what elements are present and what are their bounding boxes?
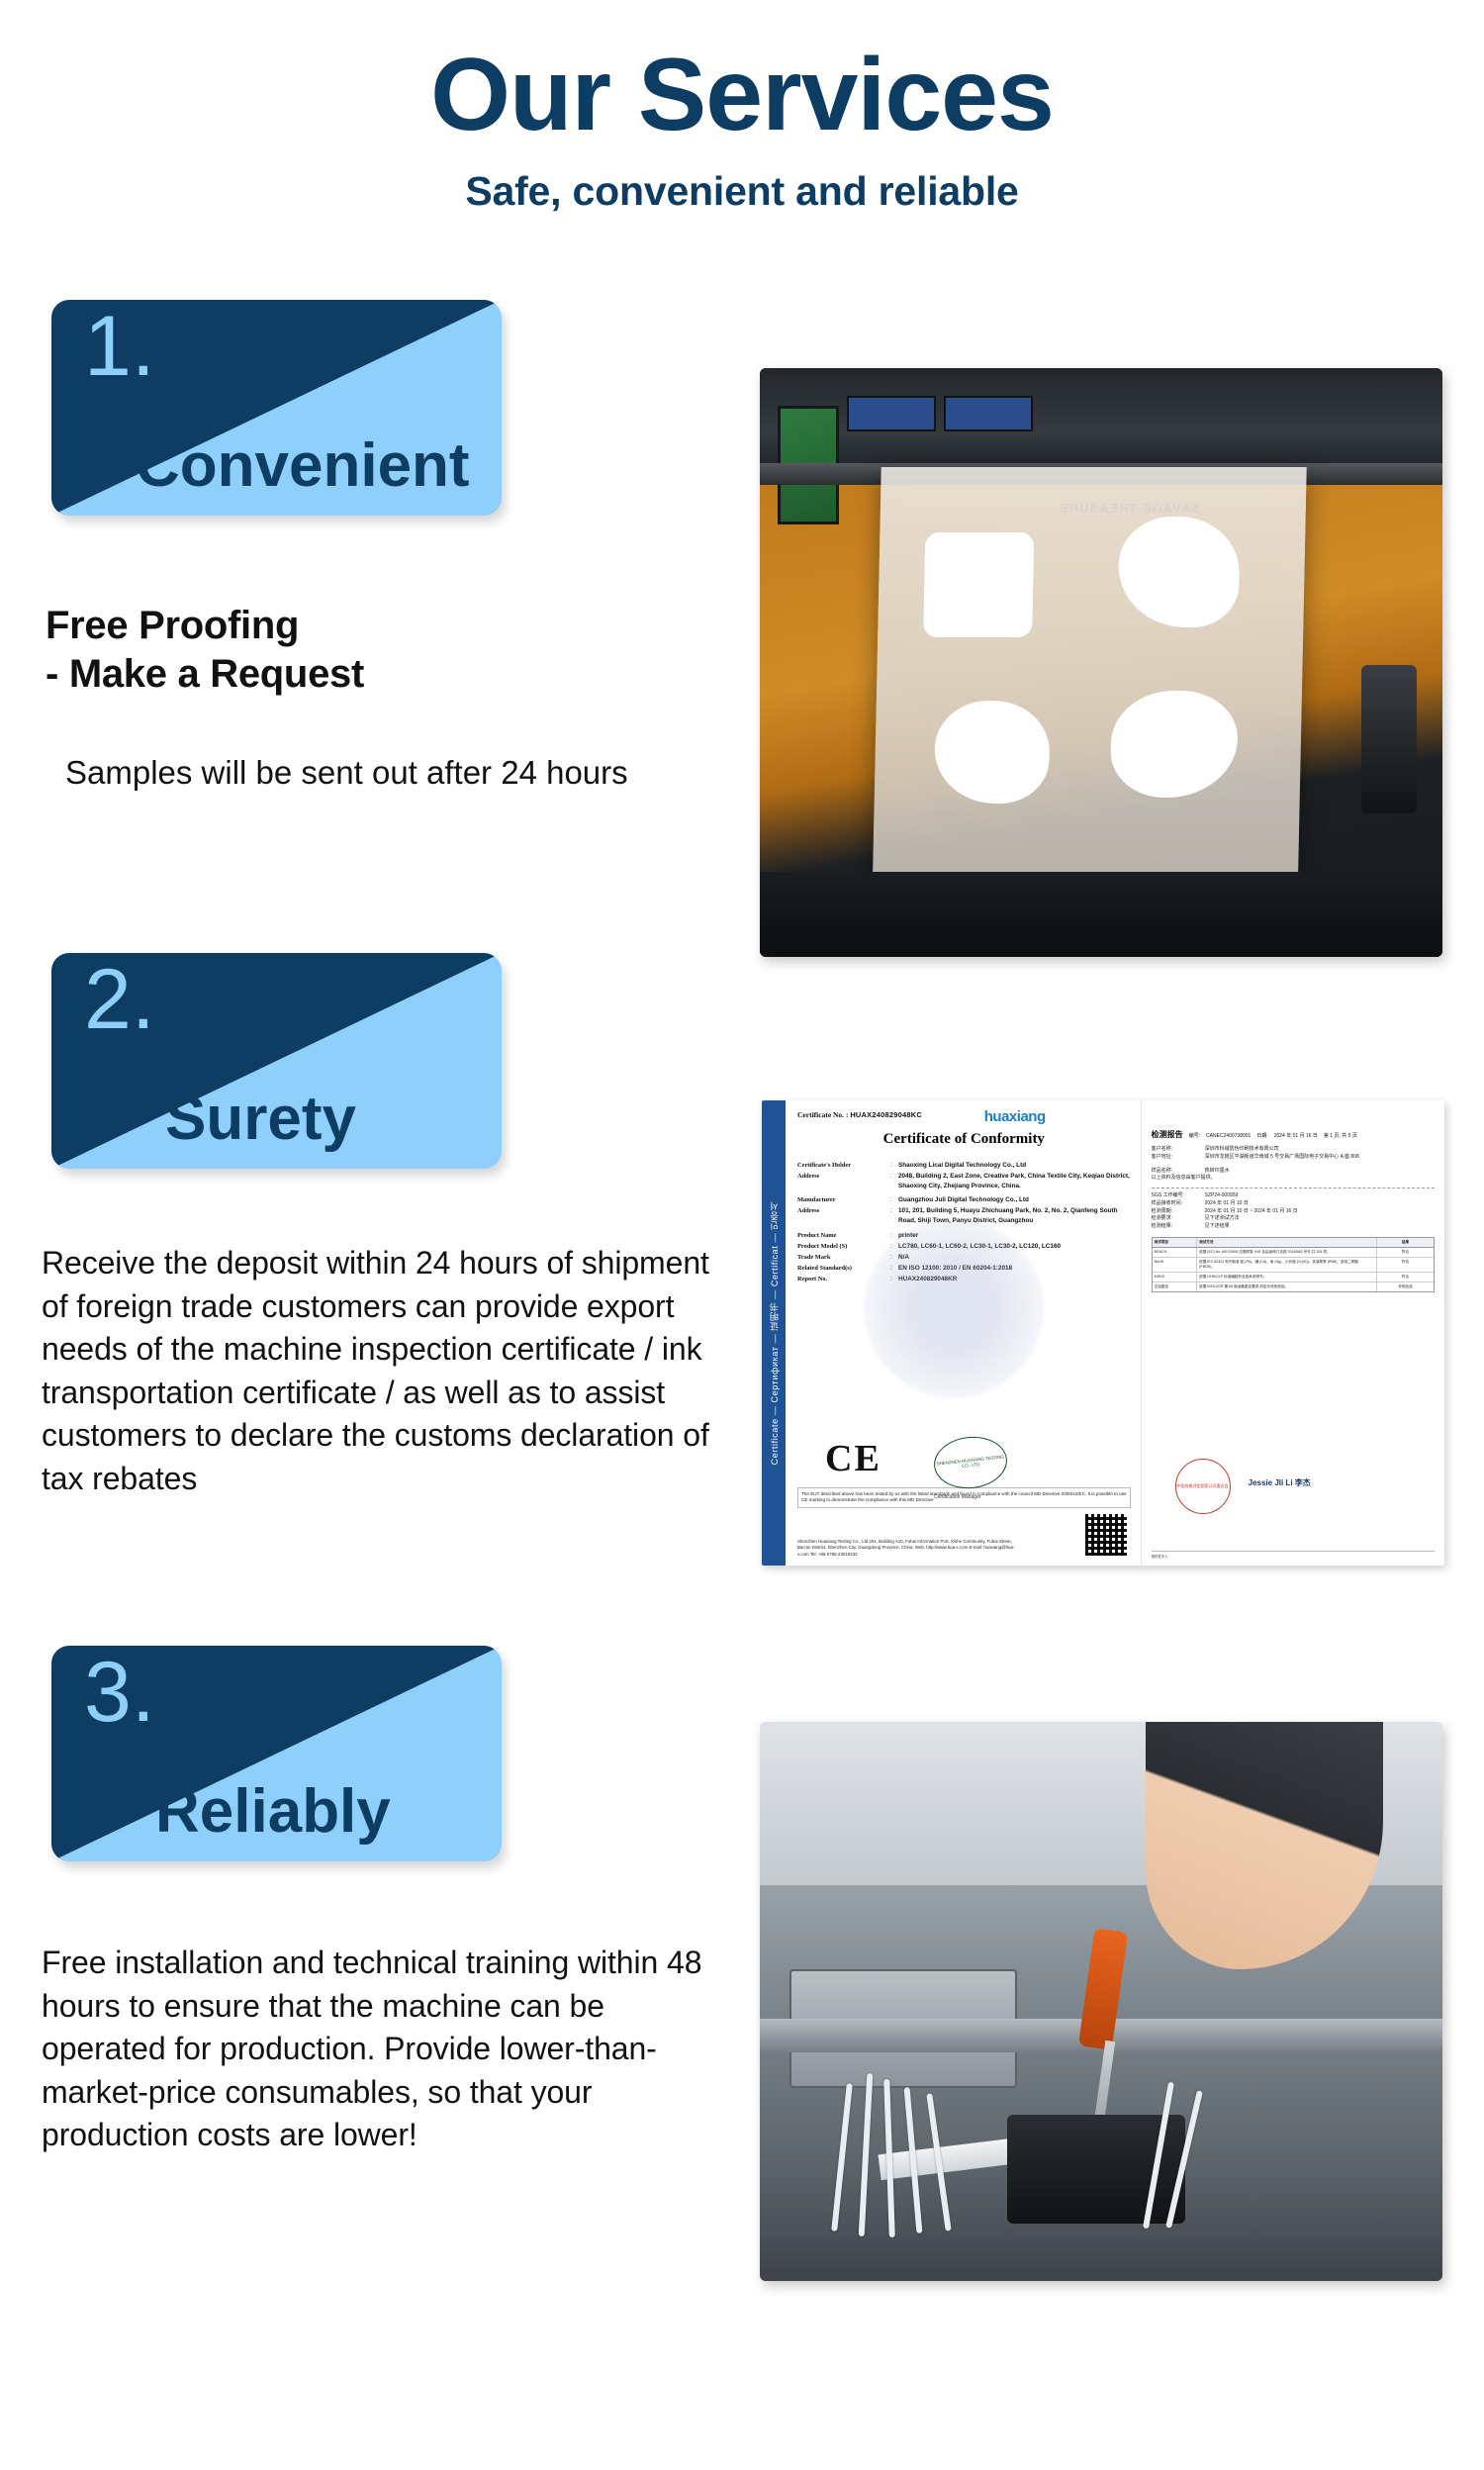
sgs-results-table: 测试项目 测试方法 结果 REACH 依据 (EC) No 1907/2006 … bbox=[1152, 1237, 1435, 1292]
certificate-row-value: 2048, Building 2, East Zone, Creative Pa… bbox=[898, 1172, 1131, 1190]
ink-tube bbox=[883, 2079, 895, 2237]
ink-tube bbox=[831, 2083, 853, 2232]
certificate-detail-rows: Certificate's Holder : Shaoxing Licai Di… bbox=[797, 1161, 1131, 1284]
certificate-row: Report No. : HUAX240829048KR bbox=[797, 1275, 1131, 1284]
badge-label-1: Convenient bbox=[136, 433, 492, 498]
sgs-signature: Jessie JIi Li 李杰 bbox=[1249, 1477, 1311, 1488]
certificate-row-value: LC780, LC60-1, LC60-2, LC30-1, LC30-2, L… bbox=[898, 1242, 1131, 1252]
film-text-line: SAVAGE TREASURE bbox=[1059, 501, 1200, 516]
huaxiang-logo: huaxiang bbox=[984, 1108, 1046, 1125]
certificate-row-value: Shaoxing Licai Digital Technology Co., L… bbox=[898, 1161, 1131, 1171]
badge-number-3: 3. bbox=[84, 1650, 155, 1735]
certificate-row: Certificate's Holder : Shaoxing Licai Di… bbox=[797, 1161, 1131, 1171]
certificate-spine: Certificate — Сертификат — 证明书 — Certifi… bbox=[762, 1100, 786, 1566]
sgs-report-pane: 检测报告 编号: CANEC2400738901 日期: 2024 年 01 月… bbox=[1142, 1100, 1444, 1566]
sgs-row-value: 深圳市龙岗区平湖街道华南城 5 号交易广场国际电子交易中心 A 座 808 bbox=[1205, 1154, 1435, 1162]
sgs-row: 客户地址: 深圳市龙岗区平湖街道华南城 5 号交易广场国际电子交易中心 A 座 … bbox=[1152, 1154, 1435, 1162]
sgs-row-key: 客户名称: bbox=[1152, 1146, 1205, 1154]
ink-tube bbox=[926, 2093, 951, 2231]
sgs-report-footer: 授权签字人 bbox=[1152, 1551, 1435, 1560]
printer-base bbox=[760, 872, 1442, 957]
qr-code-icon bbox=[1085, 1514, 1127, 1556]
sgs-table-header: 测试项目 测试方法 结果 bbox=[1153, 1238, 1434, 1248]
sgs-signature-role: 授权签字人 bbox=[1152, 1555, 1168, 1559]
printer-blue-module-a bbox=[847, 396, 936, 431]
sgs-report-no-value: CANEC2400738901 bbox=[1206, 1133, 1251, 1139]
section-2-body: Receive the deposit within 24 hours of s… bbox=[42, 1242, 734, 1500]
sgs-col-item: 测试项目 bbox=[1153, 1238, 1197, 1247]
sgs-row-value: 深圳市科域防伪印刷技术有限公司 bbox=[1205, 1146, 1435, 1154]
sgs-row-key: SGS 工作编号: bbox=[1152, 1192, 1205, 1200]
sgs-row-key: 以上资料及信息由客户提供。 bbox=[1152, 1175, 1216, 1183]
certificate-row-key: Trade Mark bbox=[797, 1253, 890, 1263]
sgs-row-value: 见下述结果 bbox=[1205, 1223, 1435, 1231]
sgs-report-header: 检测报告 编号: CANEC2400738901 日期: 2024 年 01 月… bbox=[1152, 1129, 1435, 1140]
machine-ink-tubes bbox=[829, 2063, 1245, 2261]
sgs-report-date-value: 2024 年 01 月 16 日 bbox=[1274, 1132, 1318, 1139]
badge-label-2: Surety bbox=[165, 1087, 492, 1151]
section-badge-1: 1. Convenient bbox=[51, 300, 502, 516]
certificate-signature-label: Certification Manager bbox=[934, 1494, 981, 1500]
printer-blue-module-b bbox=[944, 396, 1033, 431]
certificate-number-value: HUAX240829048KC bbox=[850, 1110, 922, 1119]
printer-nozzle-assembly bbox=[1361, 665, 1417, 813]
sgs-row-value: SZP24-000959 bbox=[1205, 1192, 1435, 1200]
certificate-row: Address : 2048, Building 2, East Zone, C… bbox=[797, 1172, 1131, 1190]
ink-tube bbox=[859, 2073, 874, 2236]
sgs-table-row: 空运鉴定 依据 IATA DGR 第 65 版运输鉴定要求,判定为非危险品。 非… bbox=[1153, 1282, 1434, 1291]
certificate-spine-text: Certificate — Сертификат — 证明书 — Certifi… bbox=[768, 1201, 781, 1465]
sgs-row: 样品接收时间: 2024 年 01 月 10 日 bbox=[1152, 1200, 1435, 1208]
certificate-stamp: SHENZHEN HUAXIANG TESTING CO., LTD bbox=[931, 1433, 1009, 1491]
certificate-row: Related Standard(s) : EN ISO 12100: 2010… bbox=[797, 1264, 1131, 1274]
certificate-row-value: Guangzhou Juli Digital Technology Co., L… bbox=[898, 1195, 1131, 1205]
badge-label-3: Reliably bbox=[155, 1779, 492, 1844]
certificate-row-key: Product Name bbox=[797, 1231, 890, 1241]
sgs-row: 客户名称: 深圳市科域防伪印刷技术有限公司 bbox=[1152, 1146, 1435, 1154]
services-page: Our Services Safe, convenient and reliab… bbox=[0, 0, 1484, 2470]
certificate-row-key: Address bbox=[797, 1206, 890, 1225]
certificate-row-value: 101, 201, Building 5, Huayu Zhichuang Pa… bbox=[898, 1206, 1131, 1225]
certificate-row: Product Name : printer bbox=[797, 1231, 1131, 1241]
certificate-pane: Certificate No. : HUAX240829048KC huaxia… bbox=[786, 1100, 1142, 1566]
sgs-divider bbox=[1152, 1187, 1435, 1188]
ink-tube bbox=[1165, 2090, 1203, 2229]
certificate-row: Trade Mark : N/A bbox=[797, 1253, 1131, 1263]
badge-number-2: 2. bbox=[84, 957, 155, 1042]
left-column: 1. Convenient Free Proofing - Make a Req… bbox=[0, 0, 752, 2470]
section-badge-2: 2. Surety bbox=[51, 953, 502, 1169]
certificate-row-value: EN ISO 12100: 2010 / EN 60204-1:2018 bbox=[898, 1264, 1131, 1274]
ce-mark-icon: CE bbox=[825, 1437, 881, 1480]
certificate-row-value: printer bbox=[898, 1231, 1131, 1241]
sgs-report-date-label: 日期: bbox=[1256, 1132, 1267, 1139]
technician-service-photo bbox=[760, 1722, 1442, 2281]
film-artwork-3 bbox=[934, 701, 1051, 804]
certificate-row-key: Related Standard(s) bbox=[797, 1264, 890, 1274]
section-1-body: Samples will be sent out after 24 hours bbox=[65, 752, 718, 795]
transfer-film-sheet: SAVAGE TREASURE bbox=[872, 467, 1306, 914]
badge-number-1: 1. bbox=[84, 304, 155, 389]
sgs-col-result: 结果 bbox=[1377, 1238, 1434, 1247]
sgs-row: 检测周期: 2024 年 01 月 10 日 ~ 2024 年 01 月 16 … bbox=[1152, 1208, 1435, 1216]
certificate-of-conformity: Certificate — Сертификат — 证明书 — Certifi… bbox=[762, 1100, 1444, 1566]
film-artwork-4 bbox=[1110, 691, 1239, 798]
sgs-red-seal-icon: 中国合格评定国家认可委员会 bbox=[1175, 1459, 1231, 1514]
certificate-issuer-block: Shenzhen Huaxiang Testing Co., Ltd 201, … bbox=[797, 1539, 1022, 1558]
sgs-table-row: RoHS 依据 IEC 62321 系列标准,铅 (Pb)、镉 (Cd)、汞 (… bbox=[1153, 1258, 1434, 1273]
certificate-number-label: Certificate No. bbox=[797, 1110, 844, 1119]
sgs-report-rows: 客户名称: 深圳市科域防伪印刷技术有限公司 客户地址: 深圳市龙岗区平湖街道华南… bbox=[1152, 1146, 1435, 1231]
sgs-table-row: MSDS 依据 GHS/CLP 标准编制安全技术说明书。 符合 bbox=[1153, 1273, 1434, 1282]
certificate-number-line: Certificate No. : HUAX240829048KC bbox=[797, 1110, 1131, 1119]
sgs-row-key: 客户地址: bbox=[1152, 1154, 1205, 1162]
sgs-row: 检测结果: 见下述结果 bbox=[1152, 1223, 1435, 1231]
certificate-row: Address : 101, 201, Building 5, Huayu Zh… bbox=[797, 1206, 1131, 1225]
certificate-layout: Certificate — Сертификат — 证明书 — Certifi… bbox=[762, 1100, 1444, 1566]
certificate-body: Certificate No. : HUAX240829048KC huaxia… bbox=[786, 1100, 1444, 1566]
certificate-row: Product Model (S) : LC780, LC60-1, LC60-… bbox=[797, 1242, 1131, 1252]
sgs-row-value: 热转印墨水 bbox=[1205, 1168, 1435, 1176]
certificate-row-key: Report No. bbox=[797, 1275, 890, 1284]
certificate-row-key: Manufacturer bbox=[797, 1195, 890, 1205]
sgs-row: 检测要求: 见下述测试方法 bbox=[1152, 1215, 1435, 1223]
sgs-report-page: 第 1 页, 共 5 页 bbox=[1324, 1132, 1357, 1139]
certificate-row-value: HUAX240829048KR bbox=[898, 1275, 1131, 1284]
sgs-row-value: 2024 年 01 月 10 日 bbox=[1205, 1200, 1435, 1208]
sgs-report-title: 检测报告 bbox=[1152, 1129, 1183, 1140]
certificate-row-key: Certificate's Holder bbox=[797, 1161, 890, 1171]
film-artwork-2 bbox=[1117, 517, 1240, 627]
section-1-lead-line2: - Make a Request bbox=[46, 650, 728, 699]
certificate-row-value: N/A bbox=[898, 1253, 1131, 1263]
sgs-row: SGS 工作编号: SZP24-000959 bbox=[1152, 1192, 1435, 1200]
section-3-body: Free installation and technical training… bbox=[42, 1942, 734, 2157]
sgs-col-method: 测试方法 bbox=[1197, 1238, 1377, 1247]
film-artwork-1 bbox=[923, 532, 1034, 637]
sgs-row-key: 检测结果: bbox=[1152, 1223, 1205, 1231]
printer-film-photo: SAVAGE TREASURE bbox=[760, 368, 1442, 957]
certificate-row-key: Product Model (S) bbox=[797, 1242, 890, 1252]
sgs-report-no-label: 编号: bbox=[1189, 1132, 1200, 1139]
section-1-lead: Free Proofing - Make a Request bbox=[46, 602, 728, 699]
certificate-row-key: Address bbox=[797, 1172, 890, 1190]
ink-tube bbox=[904, 2087, 923, 2233]
sgs-row-value: 见下述测试方法 bbox=[1205, 1215, 1435, 1223]
sgs-row-key: 样品接收时间: bbox=[1152, 1200, 1205, 1208]
sgs-table-row: REACH 依据 (EC) No 1907/2006 法规附录 XVII 及后续… bbox=[1153, 1248, 1434, 1258]
section-badge-3: 3. Reliably bbox=[51, 1646, 502, 1861]
sgs-row-key: 检测要求: bbox=[1152, 1215, 1205, 1223]
section-1-lead-line1: Free Proofing bbox=[46, 602, 728, 650]
sgs-row: 以上资料及信息由客户提供。 bbox=[1152, 1175, 1435, 1183]
certificate-row: Manufacturer : Guangzhou Juli Digital Te… bbox=[797, 1195, 1131, 1205]
certificate-title: Certificate of Conformity bbox=[797, 1131, 1131, 1148]
